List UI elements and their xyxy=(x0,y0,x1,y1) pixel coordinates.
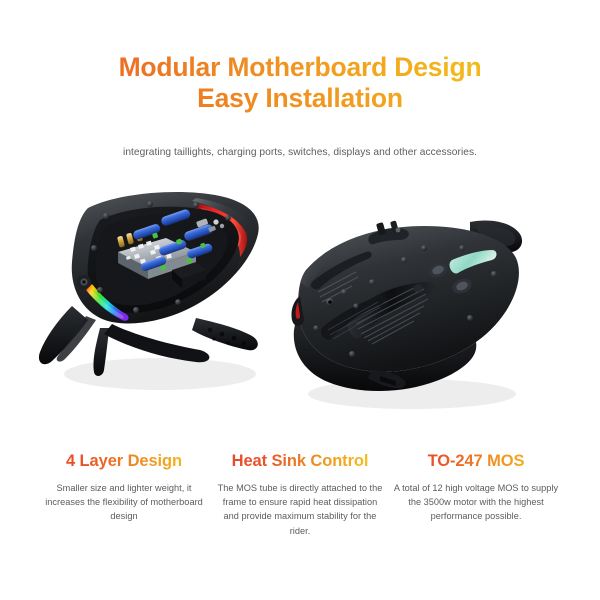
left-hinge-pivot xyxy=(77,275,91,289)
page-title-line-1: Modular Motherboard Design xyxy=(0,52,600,83)
left-support-wing xyxy=(192,318,258,350)
feature-body: A total of 12 high voltage MOS to supply… xyxy=(390,481,562,524)
feature-columns: 4 Layer Design Smaller size and lighter … xyxy=(0,450,600,538)
feature-column-heat-sink-control: Heat Sink Control The MOS tube is direct… xyxy=(212,450,388,538)
product-image-stage xyxy=(0,178,600,433)
page-subtitle: integrating taillights, charging ports, … xyxy=(0,145,600,160)
feature-body: The MOS tube is directly attached to the… xyxy=(214,481,386,538)
feature-title: TO-247 MOS xyxy=(390,450,562,472)
left-open-chassis-unit xyxy=(39,192,259,390)
right-closed-chassis-unit xyxy=(291,220,522,409)
page-title-line-2: Easy Installation xyxy=(0,83,600,114)
feature-column-4-layer-design: 4 Layer Design Smaller size and lighter … xyxy=(36,450,212,524)
page-header: Modular Motherboard Design Easy Installa… xyxy=(0,52,600,114)
feature-body: Smaller size and lighter weight, it incr… xyxy=(38,481,210,524)
feature-column-to-247-mos: TO-247 MOS A total of 12 high voltage MO… xyxy=(388,450,564,524)
product-marketing-page: Modular Motherboard Design Easy Installa… xyxy=(0,0,600,600)
feature-title: 4 Layer Design xyxy=(38,450,210,472)
feature-title: Heat Sink Control xyxy=(214,450,386,472)
